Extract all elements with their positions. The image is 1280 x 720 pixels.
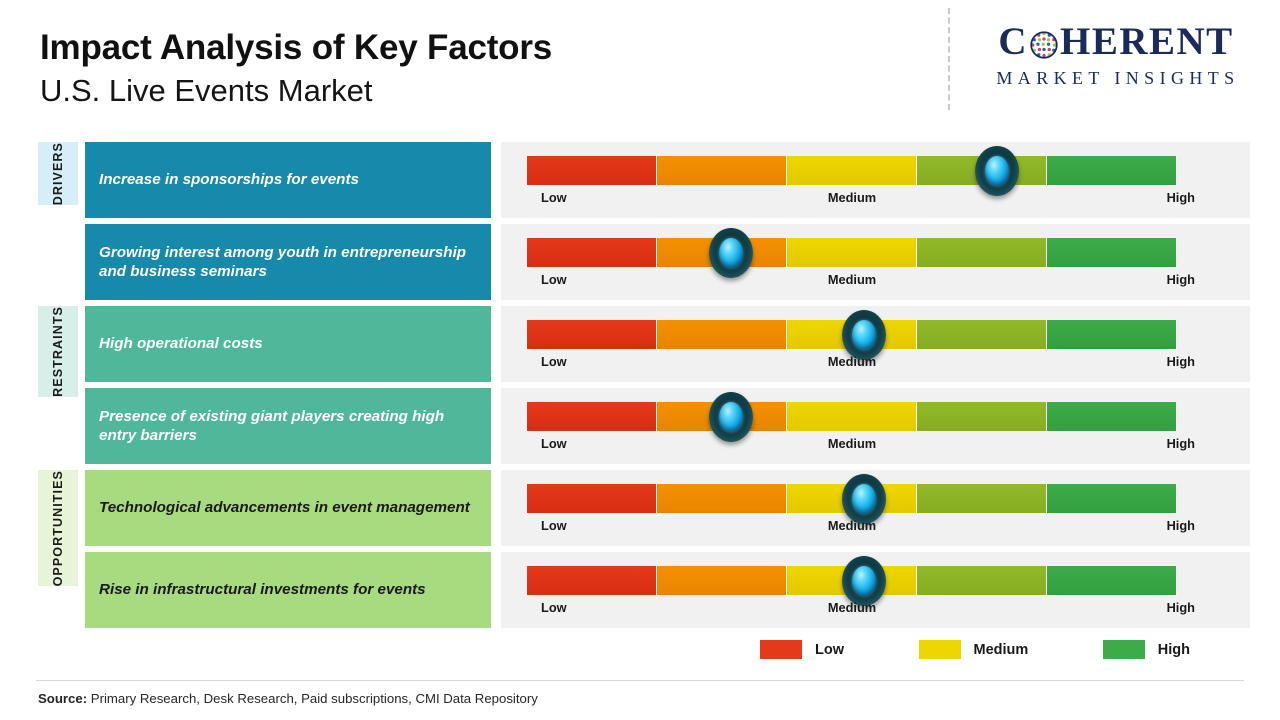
scale-labels: Low Medium High [527, 436, 1177, 458]
gauge-segment-medium [787, 238, 917, 267]
logo-tagline: MARKET INSIGHTS [966, 68, 1266, 89]
gauge-panel: Low Medium High [501, 552, 1250, 628]
slide-canvas: Impact Analysis of Key Factors U.S. Live… [0, 0, 1280, 720]
category-rows-drivers: Increase in sponsorships for events Low [85, 142, 1250, 300]
scale-label-low: Low [541, 600, 567, 615]
gauge-panel: Low Medium High [501, 470, 1250, 546]
gauge-panel: Low Medium High [501, 388, 1250, 464]
category-group-restraints: RESTRAINTS High operational costs [38, 306, 1250, 464]
scale-label-high: High [1167, 272, 1195, 287]
gauge-segment-high [1047, 484, 1177, 513]
scale-label-high: High [1167, 436, 1195, 451]
legend-label-medium: Medium [974, 642, 1029, 658]
legend-swatch-medium [919, 640, 961, 659]
factor-box: Rise in infrastructural investments for … [85, 552, 491, 628]
category-group-drivers: DRIVERS Increase in sponsorships for eve… [38, 142, 1250, 300]
gauge-segment-midhigh [917, 484, 1047, 513]
table-row: Growing interest among youth in entrepre… [85, 224, 1250, 300]
gauge-segment-high [1047, 320, 1177, 349]
gauge-panel: Low Medium High [501, 306, 1250, 382]
gauge-segment-high [1047, 566, 1177, 595]
company-logo: C [966, 22, 1266, 89]
impact-marker[interactable] [709, 228, 753, 278]
scale-labels: Low Medium High [527, 518, 1177, 540]
category-rows-restraints: High operational costs Low Mediu [85, 306, 1250, 464]
factor-box: Increase in sponsorships for events [85, 142, 491, 218]
scale-label-low: Low [541, 436, 567, 451]
scale-labels: Low Medium High [527, 190, 1177, 212]
gauge-segment-medium [787, 156, 917, 185]
factor-box: High operational costs [85, 306, 491, 382]
category-label-drivers: DRIVERS [38, 142, 78, 205]
gauge-segment-lowmid [657, 484, 787, 513]
gauge-segment-midhigh [917, 402, 1047, 431]
category-label-opportunities: OPPORTUNITIES [38, 470, 78, 586]
scale-label-medium: Medium [828, 272, 876, 287]
gauge-panel: Low Medium High [501, 224, 1250, 300]
category-label-restraints: RESTRAINTS [38, 306, 78, 397]
gauge-segment-low [527, 402, 657, 431]
scale-label-medium: Medium [828, 354, 876, 369]
impact-marker[interactable] [842, 556, 886, 606]
impact-marker[interactable] [975, 146, 1019, 196]
table-row: High operational costs Low Mediu [85, 306, 1250, 382]
gauge-segment-low [527, 238, 657, 267]
gauge-bar [527, 484, 1177, 513]
gauge-segment-midhigh [917, 238, 1047, 267]
gauge-segment-low [527, 320, 657, 349]
impact-marker[interactable] [842, 474, 886, 524]
legend-label-high: High [1158, 642, 1190, 658]
gauge-bar [527, 402, 1177, 431]
gauge-segment-midhigh [917, 320, 1047, 349]
scale-labels: Low Medium High [527, 272, 1177, 294]
gauge-bar [527, 156, 1177, 185]
factor-box: Presence of existing giant players creat… [85, 388, 491, 464]
legend-swatch-low [760, 640, 802, 659]
gauge-segment-lowmid [657, 566, 787, 595]
scale-labels: Low Medium High [527, 354, 1177, 376]
title-subtitle: U.S. Live Events Market [40, 73, 860, 110]
gauge-segment-midhigh [917, 566, 1047, 595]
gauge-segment-low [527, 484, 657, 513]
logo-wordmark: C [966, 22, 1266, 61]
scale-label-high: High [1167, 354, 1195, 369]
impact-marker[interactable] [842, 310, 886, 360]
gauge-segment-medium [787, 402, 917, 431]
table-row: Increase in sponsorships for events Low [85, 142, 1250, 218]
scale-label-low: Low [541, 190, 567, 205]
table-row: Rise in infrastructural investments for … [85, 552, 1250, 628]
factor-box: Growing interest among youth in entrepre… [85, 224, 491, 300]
scale-label-low: Low [541, 354, 567, 369]
gauge-bar [527, 566, 1177, 595]
scale-label-low: Low [541, 272, 567, 287]
scale-labels: Low Medium High [527, 600, 1177, 622]
footer-divider [36, 680, 1244, 681]
legend-item-medium: Medium [919, 640, 1029, 659]
gauge-bar [527, 238, 1177, 267]
logo-letters-herent: HERENT [1060, 22, 1234, 61]
source-text: Primary Research, Desk Research, Paid su… [87, 691, 538, 706]
scale-label-low: Low [541, 518, 567, 533]
gauge-segment-low [527, 156, 657, 185]
category-rows-opportunities: Technological advancements in event mana… [85, 470, 1250, 628]
scale-label-medium: Medium [828, 190, 876, 205]
logo-divider [948, 8, 950, 110]
factor-box: Technological advancements in event mana… [85, 470, 491, 546]
legend-item-low: Low [760, 640, 844, 659]
scale-label-high: High [1167, 190, 1195, 205]
gauge-segment-low [527, 566, 657, 595]
gauge-segment-high [1047, 402, 1177, 431]
category-group-opportunities: OPPORTUNITIES Technological advancements… [38, 470, 1250, 628]
logo-letter-c: C [998, 22, 1028, 61]
source-label: Source: [38, 691, 87, 706]
gauge-segment-high [1047, 238, 1177, 267]
globe-icon [1029, 28, 1059, 58]
table-row: Technological advancements in event mana… [85, 470, 1250, 546]
scale-label-medium: Medium [828, 436, 876, 451]
legend-swatch-high [1103, 640, 1145, 659]
chart-legend: Low Medium High [760, 640, 1190, 659]
scale-label-high: High [1167, 600, 1195, 615]
impact-marker[interactable] [709, 392, 753, 442]
scale-label-high: High [1167, 518, 1195, 533]
gauge-panel: Low Medium High [501, 142, 1250, 218]
impact-matrix: DRIVERS Increase in sponsorships for eve… [38, 142, 1250, 634]
gauge-bar [527, 320, 1177, 349]
title-main: Impact Analysis of Key Factors [40, 28, 860, 67]
gauge-segment-high [1047, 156, 1177, 185]
legend-label-low: Low [815, 642, 844, 658]
scale-label-medium: Medium [828, 518, 876, 533]
table-row: Presence of existing giant players creat… [85, 388, 1250, 464]
page-title: Impact Analysis of Key Factors U.S. Live… [40, 28, 860, 110]
source-note: Source: Primary Research, Desk Research,… [38, 691, 538, 706]
gauge-segment-lowmid [657, 156, 787, 185]
scale-label-medium: Medium [828, 600, 876, 615]
legend-item-high: High [1103, 640, 1190, 659]
gauge-segment-lowmid [657, 320, 787, 349]
